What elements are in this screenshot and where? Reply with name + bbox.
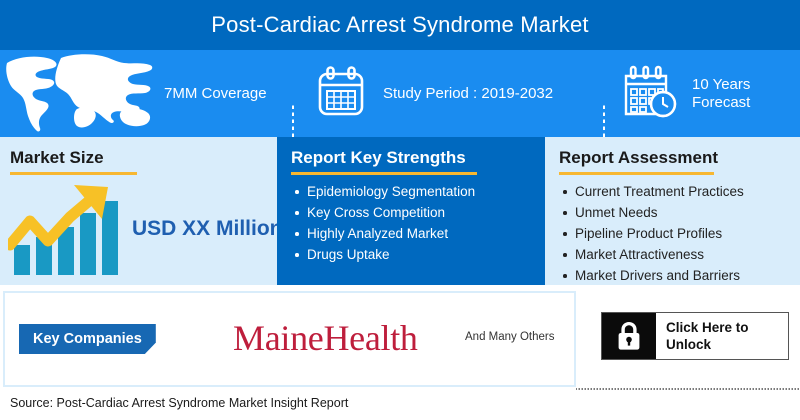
calendar-icon [317,65,365,122]
panel-market-size: Market Size [0,137,277,285]
dotted-separator [576,388,800,390]
lock-icon [602,313,656,359]
world-map-icon [4,49,154,138]
report-assessment-underline [559,172,714,175]
company-logo-mainehealth: MaineHealth [233,315,418,361]
market-size-value: USD XX Million [132,217,283,241]
report-assessment-list: Current Treatment Practices Unmet Needs … [545,182,800,285]
stat-study-period-label: Study Period : 2019-2032 [383,85,553,103]
stats-band: 7MM Coverage Study Period : 2019-2032 [0,50,800,137]
page-title: Post-Cardiac Arrest Syndrome Market [211,12,588,38]
list-item: Drugs Uptake [307,245,545,264]
title-band: Post-Cardiac Arrest Syndrome Market [0,0,800,50]
stat-forecast: 10 Years Forecast [606,50,800,137]
market-size-graphic: USD XX Million [8,179,273,279]
stat-forecast-label: 10 Years Forecast [692,76,800,111]
list-item: Key Cross Competition [307,203,545,222]
list-item: Epidemiology Segmentation [307,182,545,201]
key-companies-card: Key Companies MaineHealth And Many Other… [3,291,576,387]
list-item: Unmet Needs [575,203,800,222]
list-item: Market Attractiveness [575,245,800,264]
source-note: Source: Post-Cardiac Arrest Syndrome Mar… [10,396,348,410]
list-item: Current Treatment Practices [575,182,800,201]
panel-report-key-strengths: Report Key Strengths Epidemiology Segmen… [277,137,545,285]
list-item: Market Drivers and Barriers [575,266,800,285]
key-companies-badge: Key Companies [19,324,156,354]
report-assessment-heading: Report Assessment [545,137,800,166]
market-size-heading: Market Size [0,137,277,166]
infographic-page: Post-Cardiac Arrest Syndrome Market [0,0,800,420]
and-many-others-label: And Many Others [465,331,554,343]
market-size-underline [10,172,137,175]
panels-row: Market Size [0,137,800,285]
stat-coverage: 7MM Coverage [0,50,293,137]
list-item: Pipeline Product Profiles [575,224,800,243]
stat-study-period: Study Period : 2019-2032 [295,50,604,137]
stat-coverage-label: 7MM Coverage [164,85,267,103]
click-here-to-unlock-button[interactable]: Click Here to Unlock [601,312,789,360]
list-item: Highly Analyzed Market [307,224,545,243]
key-strengths-list: Epidemiology Segmentation Key Cross Comp… [277,182,545,264]
calendar-clock-icon [622,64,680,123]
growth-chart-icon [8,183,126,275]
unlock-button-label: Click Here to Unlock [656,313,788,359]
key-strengths-heading: Report Key Strengths [277,137,545,166]
key-strengths-underline [291,172,477,175]
panel-report-assessment: Report Assessment Current Treatment Prac… [545,137,800,285]
